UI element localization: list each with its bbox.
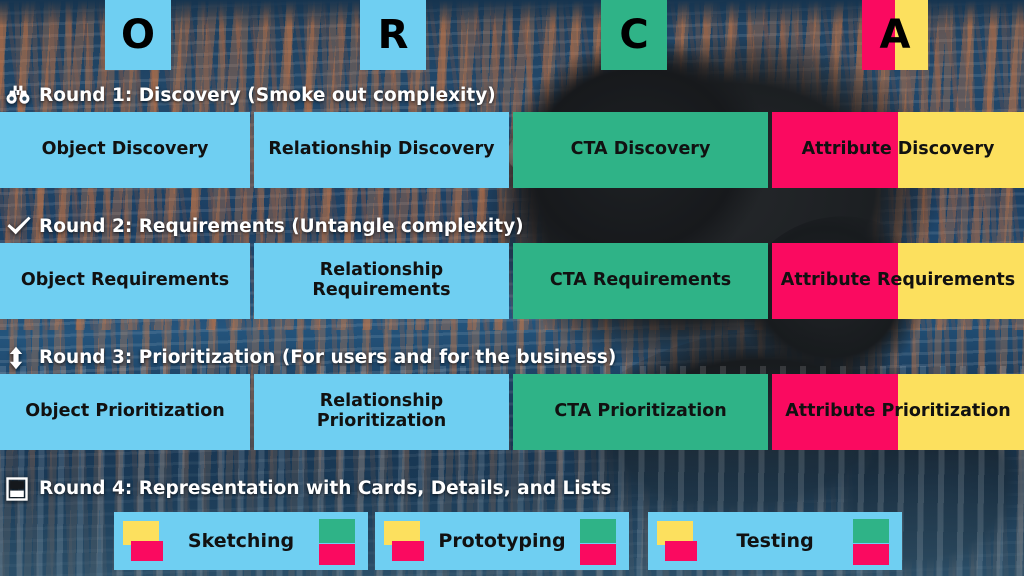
round-3-header: Round 3: Prioritization (For users and f… [6, 343, 616, 371]
swatch-green [853, 519, 889, 543]
lane-label: Relationship Prioritization [260, 392, 503, 431]
swatch-green [580, 519, 616, 543]
lane-label: CTA Requirements [550, 271, 731, 291]
lane-label: Attribute Prioritization [785, 402, 1011, 422]
prototyping-right-swatches [578, 519, 620, 563]
acronym-letter-o-glyph: O [121, 15, 155, 55]
round-1-title: Round 1: Discovery (Smoke out complexity… [39, 85, 496, 106]
round-1-header: Round 1: Discovery (Smoke out complexity… [6, 81, 496, 109]
swatch-pink [580, 544, 616, 565]
round-4-title: Round 4: Representation with Cards, Deta… [39, 478, 611, 499]
lane-object-discovery[interactable]: Object Discovery [0, 112, 250, 188]
lane-attribute-requirements[interactable]: Attribute Requirements [772, 243, 1024, 319]
slide-stage: O R C A Round 1: Disc [0, 0, 1024, 576]
sketching-left-swatches [123, 519, 165, 563]
lane-label: CTA Prioritization [554, 402, 726, 422]
checkmark-icon [6, 215, 30, 237]
lane-relationship-requirements[interactable]: Relationship Requirements [254, 243, 509, 319]
swatch-green [319, 519, 355, 543]
chip-label: Testing [709, 530, 841, 552]
swatch-pink [665, 541, 697, 561]
lane-label: Relationship Discovery [268, 140, 494, 160]
lane-relationship-discovery[interactable]: Relationship Discovery [254, 112, 509, 188]
acronym-letter-c-glyph: C [619, 15, 648, 55]
card-layout-icon [6, 477, 30, 499]
lane-cta-requirements[interactable]: CTA Requirements [513, 243, 768, 319]
prototyping-left-swatches [384, 519, 426, 563]
lane-label: Object Discovery [42, 140, 209, 160]
chip-label: Prototyping [436, 530, 568, 552]
acronym-letter-o: O [105, 0, 171, 70]
round-2-title: Round 2: Requirements (Untangle complexi… [39, 216, 524, 237]
up-down-arrow-icon [6, 346, 30, 368]
chip-label: Sketching [175, 530, 307, 552]
acronym-letter-c: C [601, 0, 667, 70]
lane-label: Attribute Requirements [781, 271, 1015, 291]
lane-cta-discovery[interactable]: CTA Discovery [513, 112, 768, 188]
lane-cta-prioritization[interactable]: CTA Prioritization [513, 374, 768, 450]
round-3-title: Round 3: Prioritization (For users and f… [39, 347, 616, 368]
lane-label: Object Prioritization [25, 402, 224, 422]
lane-object-requirements[interactable]: Object Requirements [0, 243, 250, 319]
acronym-letter-a: A [862, 0, 928, 70]
binoculars-icon [6, 84, 30, 106]
acronym-letter-r: R [360, 0, 426, 70]
lane-attribute-prioritization[interactable]: Attribute Prioritization [772, 374, 1024, 450]
round-4-header: Round 4: Representation with Cards, Deta… [6, 474, 611, 502]
lane-label: CTA Discovery [571, 140, 711, 160]
lane-object-prioritization[interactable]: Object Prioritization [0, 374, 250, 450]
swatch-pink [853, 544, 889, 565]
lane-label: Relationship Requirements [260, 261, 503, 300]
testing-left-swatches [657, 519, 699, 563]
swatch-pink [319, 544, 355, 565]
chip-sketching[interactable]: Sketching [114, 512, 368, 570]
lane-attribute-discovery[interactable]: Attribute Discovery [772, 112, 1024, 188]
acronym-letter-r-glyph: R [378, 15, 409, 55]
round-2-header: Round 2: Requirements (Untangle complexi… [6, 212, 524, 240]
swatch-pink [392, 541, 424, 561]
chip-testing[interactable]: Testing [648, 512, 902, 570]
swatch-pink [131, 541, 163, 561]
chip-prototyping[interactable]: Prototyping [375, 512, 629, 570]
lane-label: Attribute Discovery [802, 140, 995, 160]
testing-right-swatches [851, 519, 893, 563]
lane-label: Object Requirements [21, 271, 229, 291]
lane-relationship-prioritization[interactable]: Relationship Prioritization [254, 374, 509, 450]
sketching-right-swatches [317, 519, 359, 563]
acronym-letter-a-glyph: A [880, 15, 911, 55]
